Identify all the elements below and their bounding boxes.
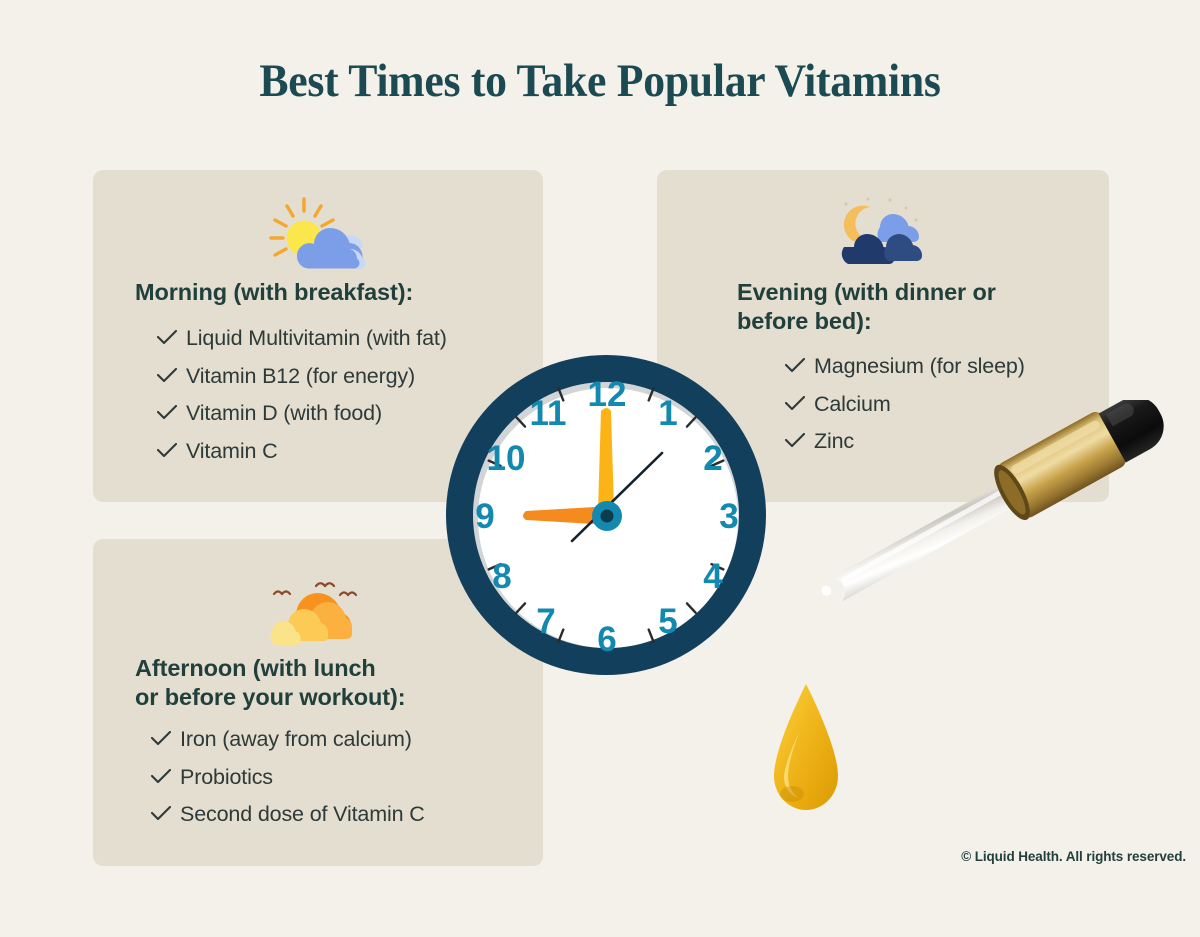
svg-text:7: 7 xyxy=(536,602,555,641)
liquid-dropper xyxy=(770,400,1200,850)
list-item: Vitamin C xyxy=(157,433,447,471)
check-icon xyxy=(157,320,186,345)
svg-text:10: 10 xyxy=(487,439,526,478)
svg-text:1: 1 xyxy=(658,394,677,433)
list-item: Second dose of Vitamin C xyxy=(151,796,425,834)
svg-text:2: 2 xyxy=(703,439,722,478)
card-afternoon-heading-line2: or before your workout): xyxy=(135,684,405,710)
check-icon xyxy=(157,358,186,383)
list-item-label: Second dose of Vitamin C xyxy=(180,796,425,834)
check-icon xyxy=(151,796,180,821)
check-icon xyxy=(151,759,180,784)
sun-behind-cloud-icon xyxy=(93,194,543,274)
check-icon xyxy=(157,433,186,458)
svg-text:9: 9 xyxy=(475,497,494,536)
list-item: Vitamin D (with food) xyxy=(157,395,447,433)
list-item-label: Probiotics xyxy=(180,759,273,797)
list-item: Liquid Multivitamin (with fat) xyxy=(157,320,447,358)
svg-text:3: 3 xyxy=(719,497,738,536)
svg-text:11: 11 xyxy=(530,394,567,433)
card-afternoon-list: Iron (away from calcium) Probiotics Seco… xyxy=(151,721,425,834)
list-item: Magnesium (for sleep) xyxy=(785,348,1025,386)
copyright-note: © Liquid Health. All rights reserved. xyxy=(961,849,1186,864)
svg-text:8: 8 xyxy=(492,557,511,596)
card-morning-list: Liquid Multivitamin (with fat) Vitamin B… xyxy=(157,320,447,470)
card-evening-heading: Evening (with dinner or before bed): xyxy=(737,278,1067,336)
wall-clock: 12 1 2 3 4 5 6 7 8 9 10 11 xyxy=(444,353,768,677)
check-icon xyxy=(151,721,180,746)
list-item-label: Iron (away from calcium) xyxy=(180,721,412,759)
list-item: Vitamin B12 (for energy) xyxy=(157,358,447,396)
check-icon xyxy=(785,348,814,373)
card-afternoon-heading-line1: Afternoon (with lunch xyxy=(135,655,376,681)
list-item-label: Liquid Multivitamin (with fat) xyxy=(186,320,447,358)
card-evening-heading-line2: before bed): xyxy=(737,308,872,334)
list-item-label: Vitamin D (with food) xyxy=(186,395,382,433)
card-morning-heading: Morning (with breakfast): xyxy=(135,278,525,307)
list-item: Probiotics xyxy=(151,759,425,797)
svg-text:6: 6 xyxy=(597,620,616,659)
list-item-label: Vitamin B12 (for energy) xyxy=(186,358,415,396)
svg-text:4: 4 xyxy=(703,557,723,596)
list-item-label: Magnesium (for sleep) xyxy=(814,348,1025,386)
list-item-label: Vitamin C xyxy=(186,433,277,471)
card-evening-heading-line1: Evening (with dinner or xyxy=(737,279,996,305)
page-title: Best Times to Take Popular Vitamins xyxy=(42,54,1158,108)
list-item: Iron (away from calcium) xyxy=(151,721,425,759)
svg-text:5: 5 xyxy=(658,602,677,641)
moon-behind-cloud-icon xyxy=(657,192,1109,272)
check-icon xyxy=(157,395,186,420)
